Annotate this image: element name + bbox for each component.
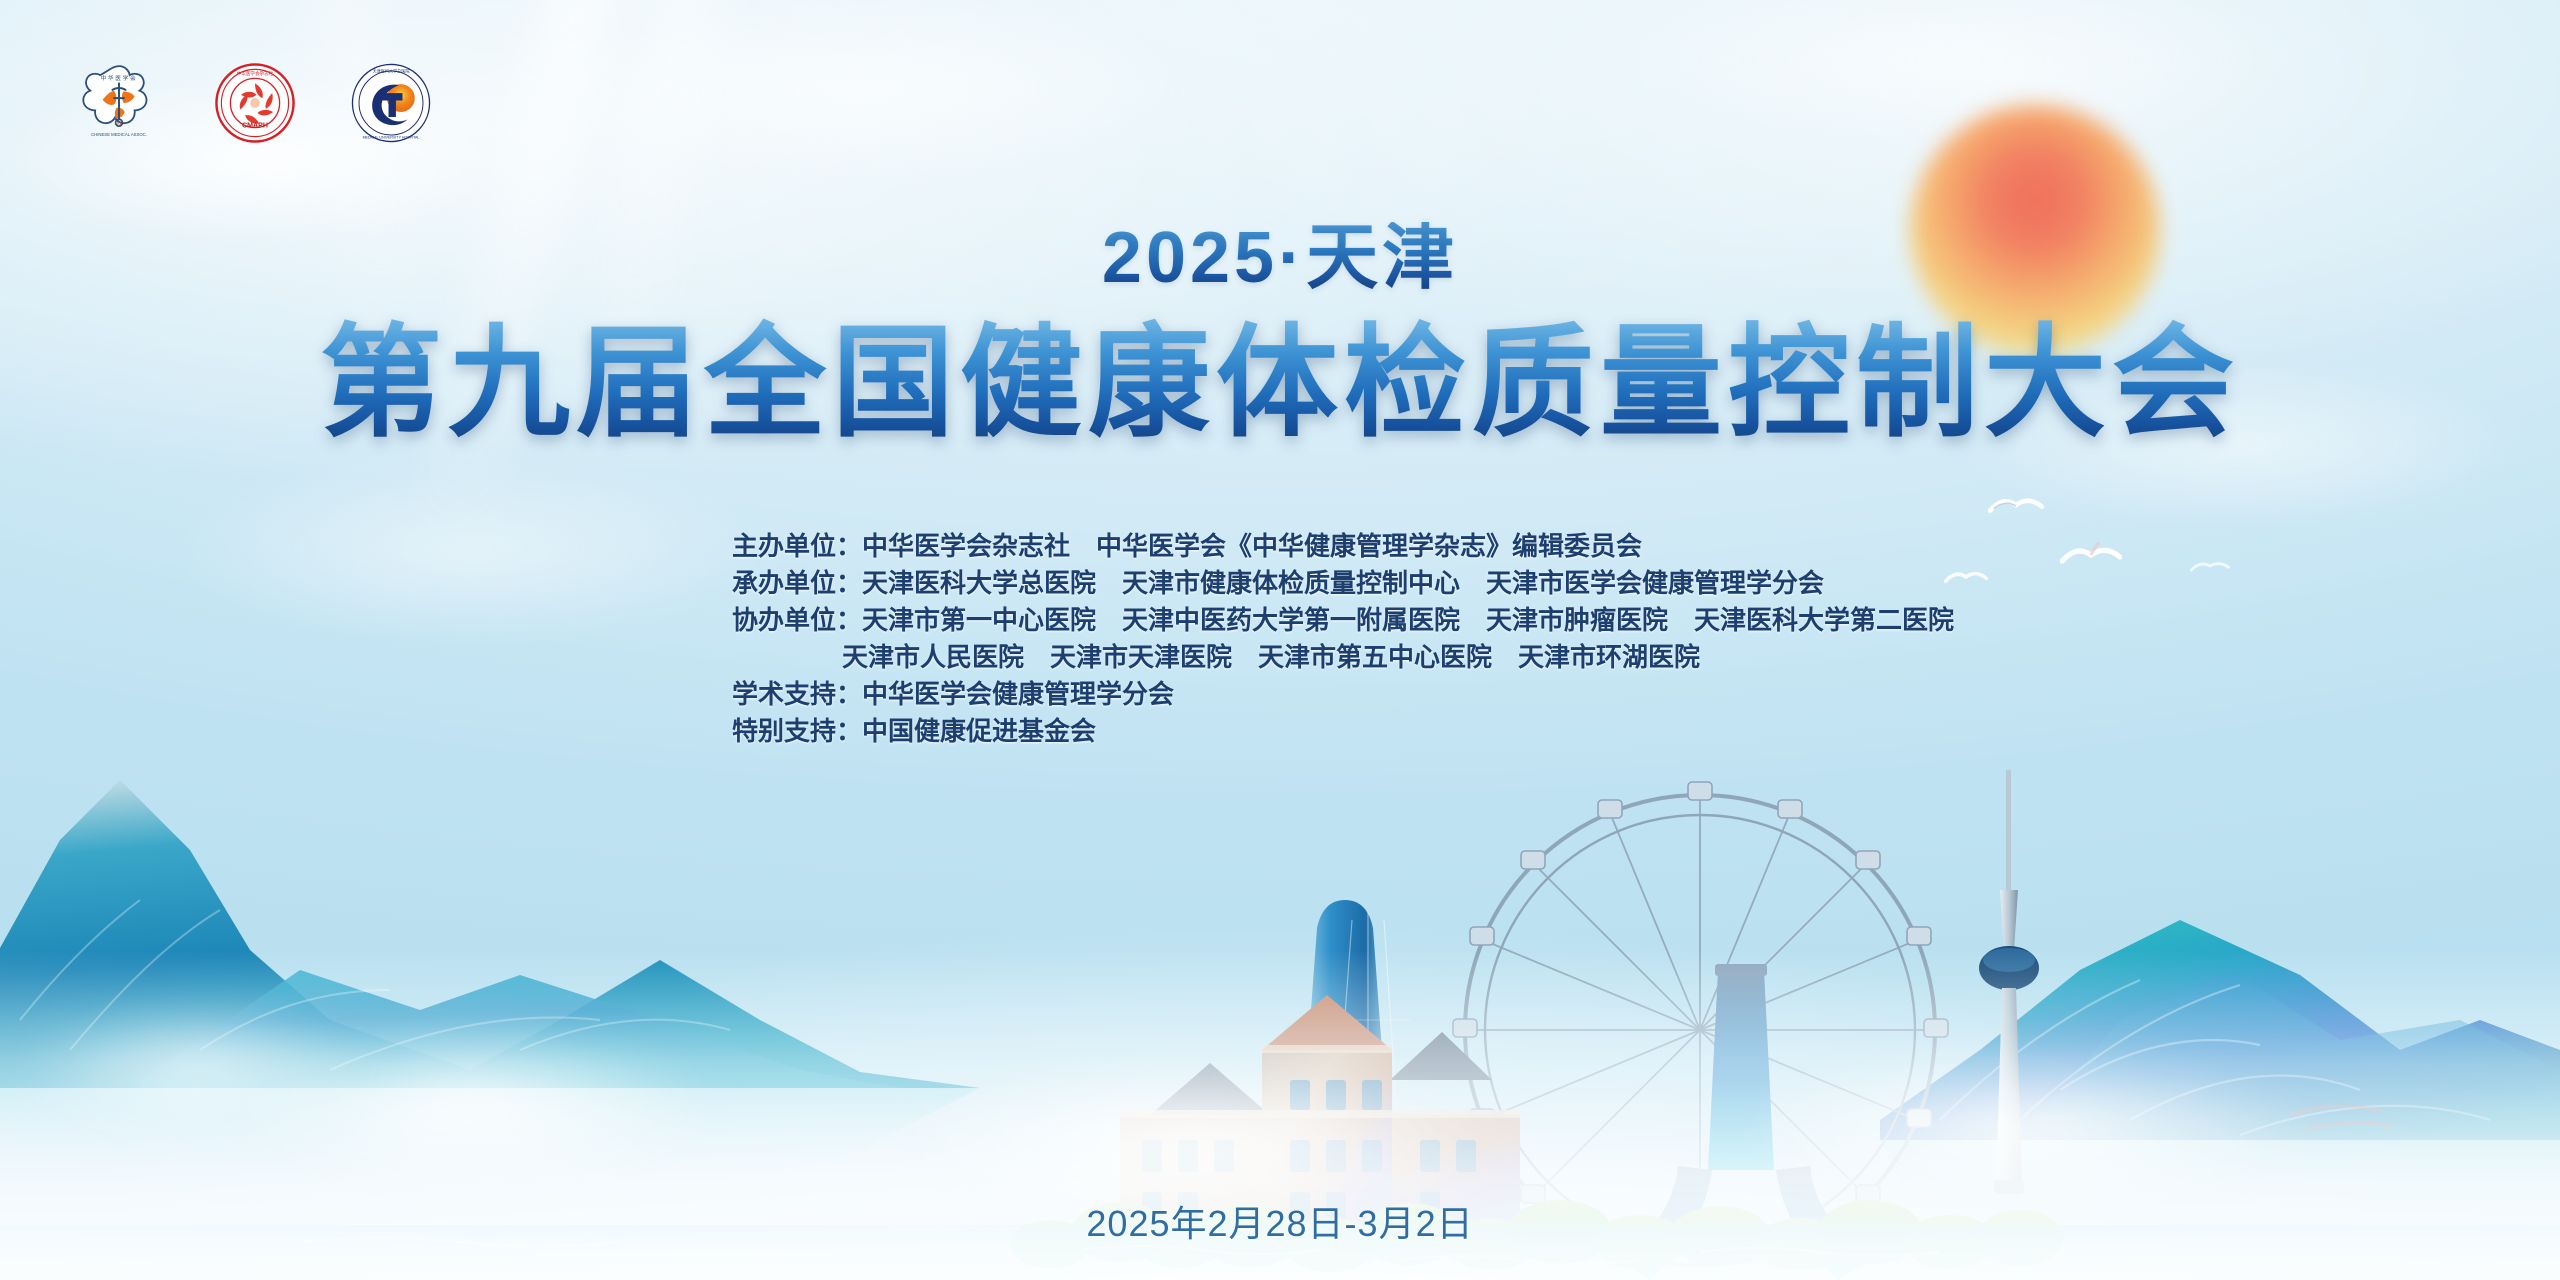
organizer-line: 特别支持：中国健康促进基金会	[732, 713, 1954, 750]
conference-poster: 1915 中华医学会 CHINESE MEDICAL ASSOC.	[0, 0, 2560, 1280]
svg-text:中华医学会: 中华医学会	[101, 74, 138, 82]
organizer-line: 天津市人民医院 天津市天津医院 天津市第五中心医院 天津市环湖医院	[732, 639, 1954, 676]
organizer-line: 学术支持：中华医学会健康管理学分会	[732, 676, 1954, 713]
ink-wash-mountains-left	[0, 780, 980, 1205]
svg-text:天津医科大学总医院: 天津医科大学总医院	[373, 68, 410, 74]
bird-icon	[2190, 556, 2230, 576]
svg-text:中华医学会杂志社: 中华医学会杂志社	[237, 70, 274, 77]
chinese-medical-association-logo: 1915 中华医学会 CHINESE MEDICAL ASSOC.	[78, 62, 160, 144]
organizer-line: 协办单位：天津市第一中心医院 天津中医药大学第一附属医院 天津市肿瘤医院 天津医…	[732, 602, 1954, 639]
cloud-wisp	[1500, 0, 2400, 180]
tianjin-radio-tv-tower	[1979, 770, 2039, 1194]
tianjin-world-financial-center-tower	[1295, 900, 1418, 1239]
organizer-line: 承办单位：天津医科大学总医院 天津市健康体检质量控制中心 天津市医学会健康管理学…	[732, 565, 1954, 602]
year-location-title: 2025·天津	[0, 222, 2560, 294]
bird-icon	[1988, 492, 2044, 518]
svg-text:1915: 1915	[114, 121, 124, 126]
page-title: 第九届全国健康体检质量控制大会	[0, 318, 2560, 450]
bird-icon	[2060, 540, 2122, 570]
tianjin-eye-ferris-wheel	[1453, 782, 1948, 1265]
event-date: 2025年2月28日-3月2日	[0, 1195, 2560, 1247]
mist-puff	[120, 1000, 820, 1220]
cloud-wisp	[420, 0, 1320, 220]
cmaph-logo: CMAPH 中华医学会杂志社	[214, 62, 296, 144]
svg-text:CMAPH: CMAPH	[242, 123, 268, 130]
logo-row: 1915 中华医学会 CHINESE MEDICAL ASSOC.	[78, 62, 432, 144]
svg-text:MEDICAL UNIVERSITY HOSPITAL: MEDICAL UNIVERSITY HOSPITAL	[363, 135, 420, 139]
svg-text:CHINESE MEDICAL ASSOC.: CHINESE MEDICAL ASSOC.	[91, 132, 147, 137]
organizer-line: 主办单位：中华医学会杂志社 中华医学会《中华健康管理学杂志》编辑委员会	[732, 528, 1954, 565]
light-ray	[300, 0, 428, 361]
organizer-block: 主办单位：中华医学会杂志社 中华医学会《中华健康管理学杂志》编辑委员会 承办单位…	[732, 528, 1954, 750]
mist-puff	[0, 980, 460, 1160]
tianjin-medical-university-general-hospital-logo: 天津医科大学总医院 MEDICAL UNIVERSITY HOSPITAL	[350, 62, 432, 144]
